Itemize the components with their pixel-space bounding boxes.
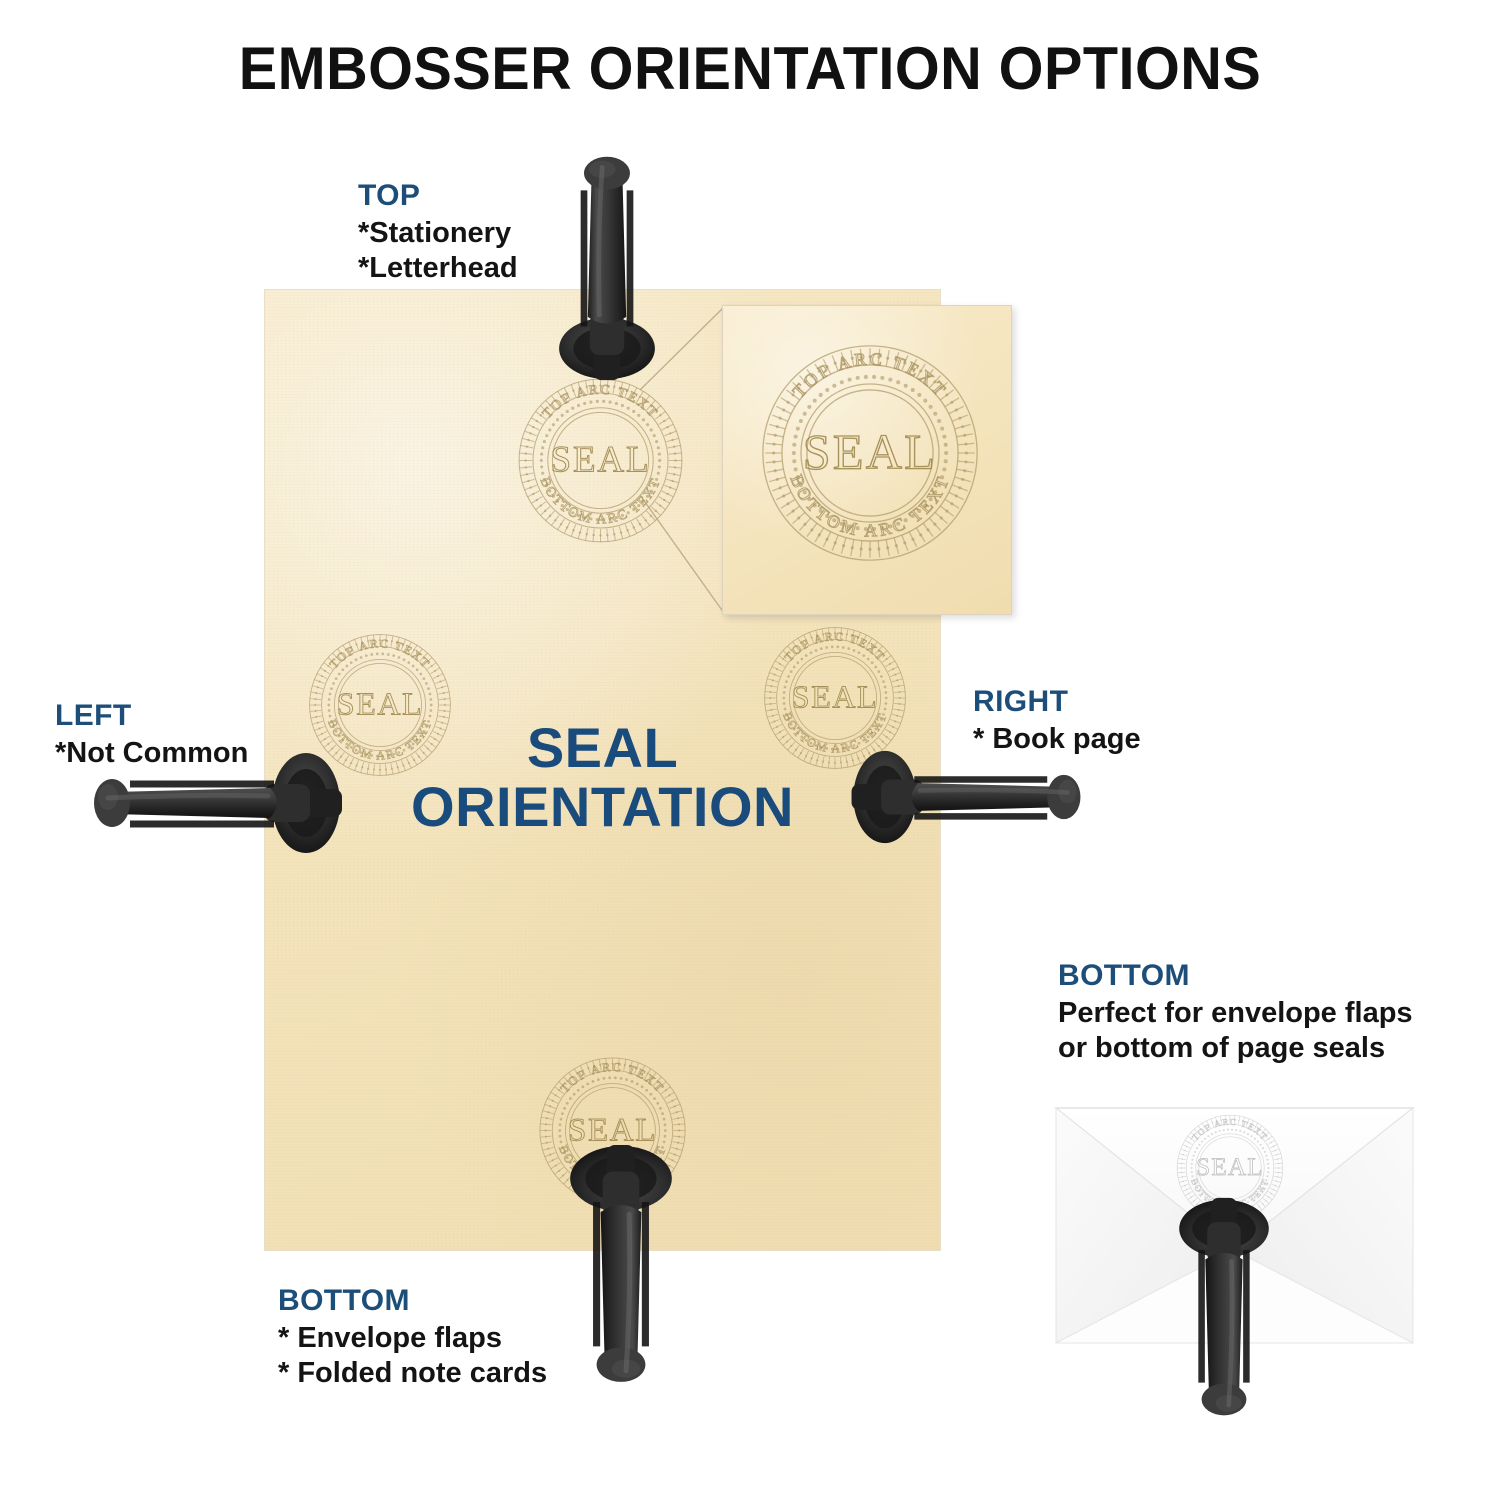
label-bottom-right-line-2: or bottom of page seals [1058,1031,1413,1066]
label-left: LEFT *Not Common [55,698,248,771]
svg-text:TOP ARC TEXT: TOP ARC TEXT [789,349,952,402]
svg-text:BOTTOM ARC TEXT: BOTTOM ARC TEXT [786,472,953,541]
seal-impression-magnified: TOP ARC TEXT BOTTOM ARC TEXT SEAL [751,334,989,572]
caption-line-2: ORIENTATION [265,777,940,836]
label-left-heading: LEFT [55,698,248,734]
page-title: EMBOSSER ORIENTATION OPTIONS [30,34,1470,103]
embosser-tool-envelope [1168,1188,1280,1428]
label-right-line-1: * Book page [973,722,1141,757]
label-bottom-left-line-1: * Envelope flaps [278,1321,547,1356]
embosser-tool-bottom [560,1140,682,1390]
magnifier-callout: TOP ARC TEXT BOTTOM ARC TEXT SEAL [722,305,1012,615]
infographic-canvas: EMBOSSER ORIENTATION OPTIONS TOP ARC TEX… [0,0,1500,1500]
caption-line-1: SEAL [265,718,940,777]
seal-orientation-caption: SEAL ORIENTATION [265,718,940,837]
embosser-tool-right [846,742,1086,852]
label-bottom-left: BOTTOM * Envelope flaps * Folded note ca… [278,1283,547,1391]
label-top-line-2: *Letterhead [358,251,518,286]
label-top-heading: TOP [358,178,518,214]
label-bottom-right: BOTTOM Perfect for envelope flaps or bot… [1058,958,1413,1066]
label-bottom-left-line-2: * Folded note cards [278,1356,547,1391]
label-bottom-left-heading: BOTTOM [278,1283,547,1319]
label-bottom-right-heading: BOTTOM [1058,958,1413,994]
label-left-line-1: *Not Common [55,736,248,771]
label-top: TOP *Stationery *Letterhead [358,178,518,286]
label-right-heading: RIGHT [973,684,1141,720]
label-right: RIGHT * Book page [973,684,1141,757]
label-bottom-right-line-1: Perfect for envelope flaps [1058,996,1413,1031]
svg-text:SEAL: SEAL [803,423,937,479]
label-top-line-1: *Stationery [358,216,518,251]
embosser-tool-top [548,152,666,382]
